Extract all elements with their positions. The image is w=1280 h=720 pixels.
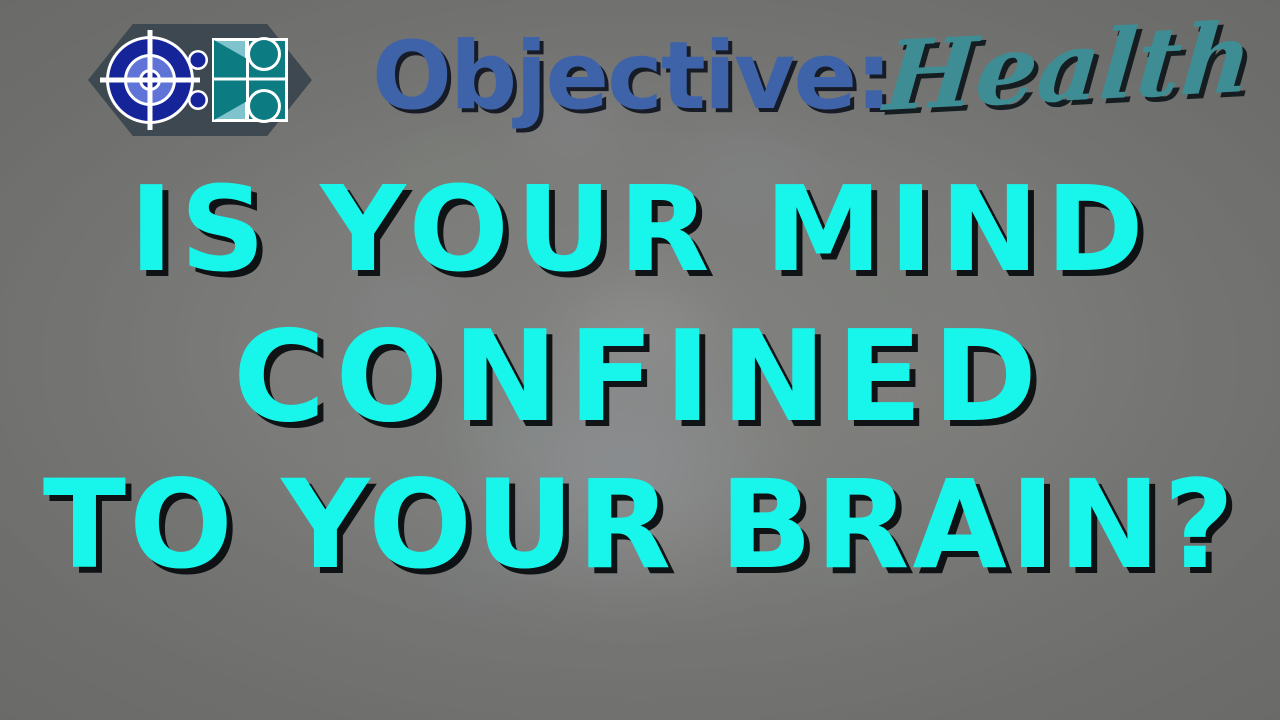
target-icon xyxy=(100,30,200,130)
letter-h-icon xyxy=(212,37,288,123)
brand-header: Objective:Health xyxy=(0,0,1280,160)
headline-block: IS YOUR MIND CONFINED TO YOUR BRAIN? xyxy=(0,170,1280,586)
brand-wordmark: Objective:Health xyxy=(372,12,1249,142)
headline-line-3: TO YOUR BRAIN? xyxy=(0,464,1280,586)
headline-line-2: CONFINED xyxy=(0,314,1280,440)
headline-line-1: IS YOUR MIND xyxy=(0,170,1280,288)
brand-objective-text: Objective: xyxy=(372,12,891,142)
logo-mark-icon xyxy=(88,24,312,136)
objective-health-logo xyxy=(88,24,312,136)
video-thumbnail: Objective:Health IS YOUR MIND CONFINED T… xyxy=(0,0,1280,720)
brand-health-text: Health xyxy=(879,0,1257,142)
